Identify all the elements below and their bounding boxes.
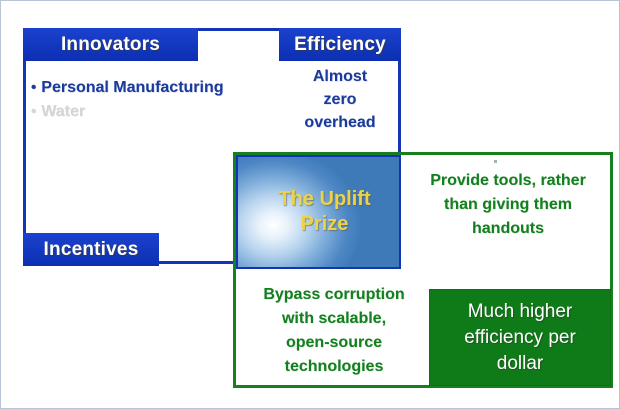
list-item[interactable]: • Personal Manufacturing xyxy=(31,77,271,99)
tab-innovators-label: Innovators xyxy=(61,34,160,56)
stray-mark-icon xyxy=(494,160,497,163)
green-solid-box[interactable]: Much higher efficiency per dollar xyxy=(429,289,611,386)
green-right-line-2: than giving them xyxy=(405,193,611,217)
bullet-marker-icon: • xyxy=(31,101,36,123)
green-solid-line-2: efficiency per xyxy=(464,325,576,351)
green-solid-line-3: dollar xyxy=(464,351,576,377)
green-right-line-1: Provide tools, rather xyxy=(405,169,611,193)
efficiency-line-2: zero xyxy=(279,88,401,111)
green-bl-line-4: technologies xyxy=(239,355,429,379)
diagram-canvas: Innovators Efficiency Incentives • Perso… xyxy=(1,1,620,409)
efficiency-line-3: overhead xyxy=(279,111,401,134)
green-right-text: Provide tools, rather than giving them h… xyxy=(405,169,611,241)
green-bl-line-3: open-source xyxy=(239,331,429,355)
efficiency-body-text: Almost zero overhead xyxy=(279,65,401,134)
tab-incentives[interactable]: Incentives xyxy=(23,233,159,266)
list-item[interactable]: • Water xyxy=(31,101,271,123)
green-bl-line-2: with scalable, xyxy=(239,307,429,331)
bullet-label-water: Water xyxy=(41,101,85,123)
green-right-line-3: handouts xyxy=(405,217,611,241)
green-bottom-left-text: Bypass corruption with scalable, open-so… xyxy=(239,283,429,379)
green-solid-label: Much higher efficiency per dollar xyxy=(464,299,576,377)
tab-innovators[interactable]: Innovators xyxy=(23,28,198,61)
green-solid-line-1: Much higher xyxy=(464,299,576,325)
bullet-marker-icon: • xyxy=(31,77,36,99)
green-bl-line-1: Bypass corruption xyxy=(239,283,429,307)
uplift-title-line-1: The Uplift xyxy=(278,187,370,212)
tab-incentives-label: Incentives xyxy=(44,239,139,261)
slide-canvas: Innovators Efficiency Incentives • Perso… xyxy=(0,0,620,409)
uplift-prize-title: The Uplift Prize xyxy=(266,187,370,237)
tab-efficiency[interactable]: Efficiency xyxy=(279,28,401,61)
bullet-label-personal-manufacturing: Personal Manufacturing xyxy=(41,77,223,99)
efficiency-line-1: Almost xyxy=(279,65,401,88)
uplift-prize-tile[interactable]: The Uplift Prize xyxy=(236,155,401,269)
uplift-title-line-2: Prize xyxy=(278,212,370,237)
innovators-bullet-list: • Personal Manufacturing • Water xyxy=(31,77,271,125)
tab-efficiency-label: Efficiency xyxy=(294,34,386,56)
